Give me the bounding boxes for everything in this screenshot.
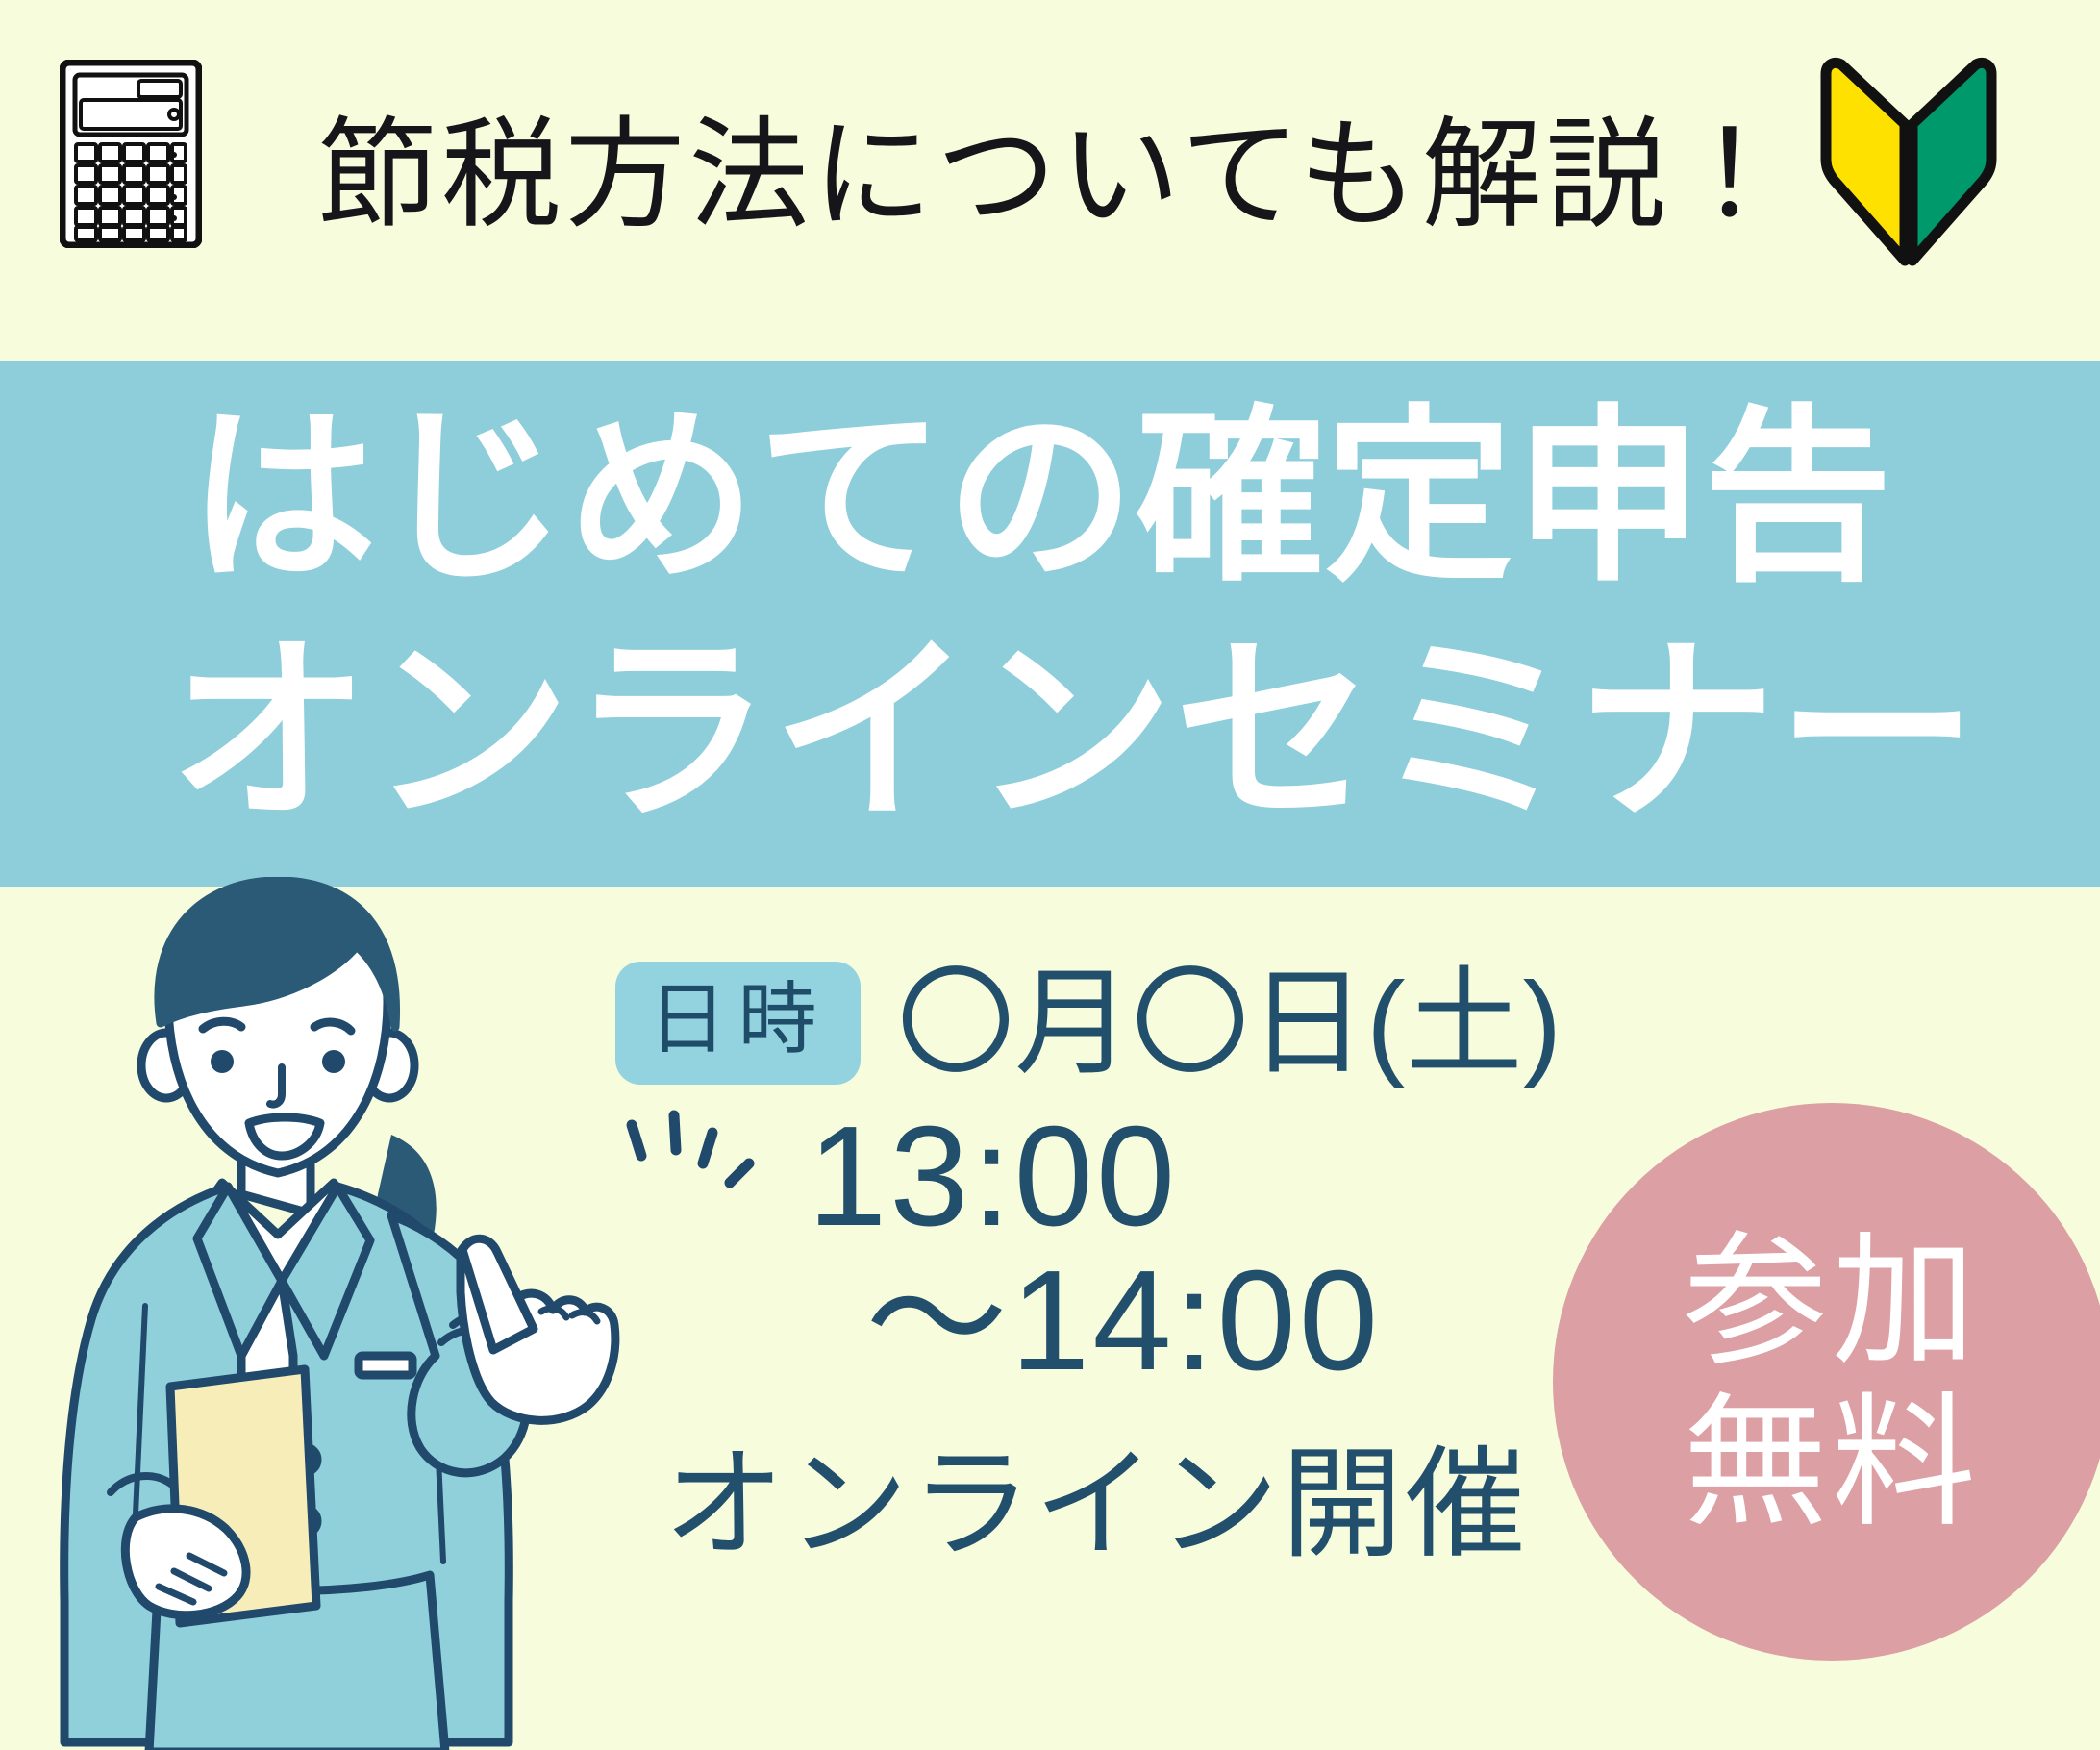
free-participation-badge: 参加 無料	[1553, 1103, 2100, 1661]
time-start: 13:00	[808, 1106, 1178, 1248]
top-strip: 節税方法についても解説！	[0, 0, 2100, 361]
businesswoman-pointing-illustration	[53, 877, 630, 1750]
emphasis-sparkle-icon	[620, 1108, 774, 1233]
date-value: 〇月〇日(土)	[897, 964, 1562, 1082]
calculator-icon	[60, 60, 202, 248]
tagline-text: 節税方法についても解説！	[317, 85, 1788, 267]
seminar-banner: 節税方法についても解説！ はじめての確定申告 オンラインセミナー	[0, 0, 2100, 1750]
venue-text: オンライン開催	[663, 1444, 1529, 1565]
free-badge-line-2: 無料	[1683, 1385, 1980, 1540]
title-band: はじめての確定申告 オンラインセミナー	[0, 361, 2100, 887]
seminar-title-line-1: はじめての確定申告	[0, 378, 2100, 618]
free-badge-line-1: 参加	[1683, 1223, 1980, 1379]
beginner-driver-mark-icon	[1812, 53, 2005, 274]
seminar-title-line-2: オンラインセミナー	[0, 612, 2100, 853]
time-end: 〜14:00	[865, 1250, 1381, 1392]
date-row: 日時 〇月〇日(土)	[615, 962, 1562, 1085]
date-label-badge: 日時	[615, 962, 861, 1085]
details-section: 日時 〇月〇日(土) 13:00 〜14:00 オンライン開催 参加 無料	[0, 887, 2100, 1750]
